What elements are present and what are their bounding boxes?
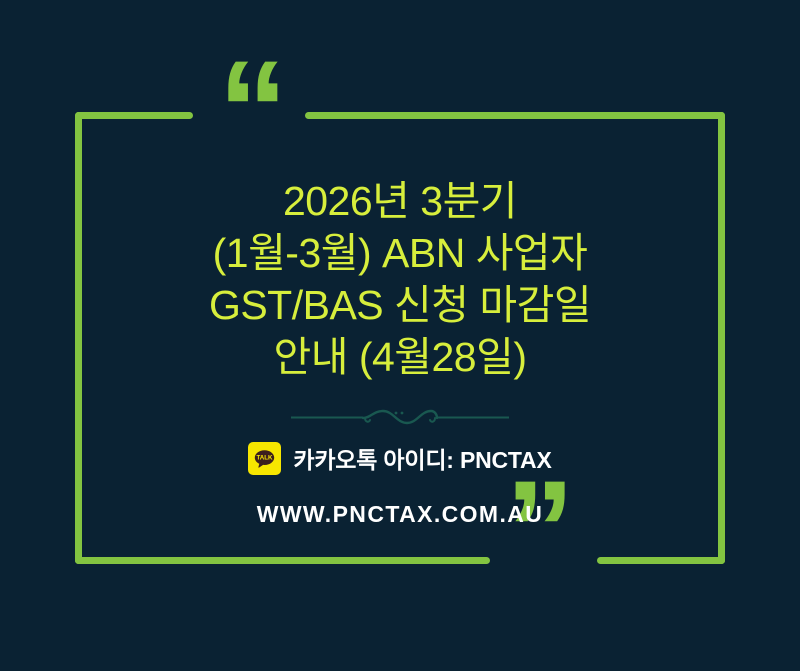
frame-left-border — [75, 112, 82, 564]
page-title: 2026년 3분기 (1월-3월) ABN 사업자 GST/BAS 신청 마감일… — [209, 119, 591, 383]
frame-top-border-right — [305, 112, 725, 119]
poster-content: 2026년 3분기 (1월-3월) ABN 사업자 GST/BAS 신청 마감일… — [82, 119, 718, 557]
kakao-icon-label: TALK — [257, 454, 274, 461]
frame-right-border — [718, 112, 725, 564]
frame-top-border-left — [75, 112, 193, 119]
kakao-id-text: 카카오톡 아이디: PNCTAX — [293, 441, 551, 475]
promo-poster: “ ” 2026년 3분기 (1월-3월) ABN 사업자 GST/BAS 신청… — [0, 0, 800, 671]
frame-bottom-border-right — [597, 557, 725, 564]
ornamental-flourish-divider — [291, 407, 509, 427]
kakaotalk-icon[interactable]: TALK — [248, 442, 281, 475]
frame-bottom-border-left — [75, 557, 490, 564]
kakao-contact-row[interactable]: TALK 카카오톡 아이디: PNCTAX — [248, 441, 551, 475]
website-url[interactable]: WWW.PNCTAX.COM.AU — [257, 501, 544, 528]
